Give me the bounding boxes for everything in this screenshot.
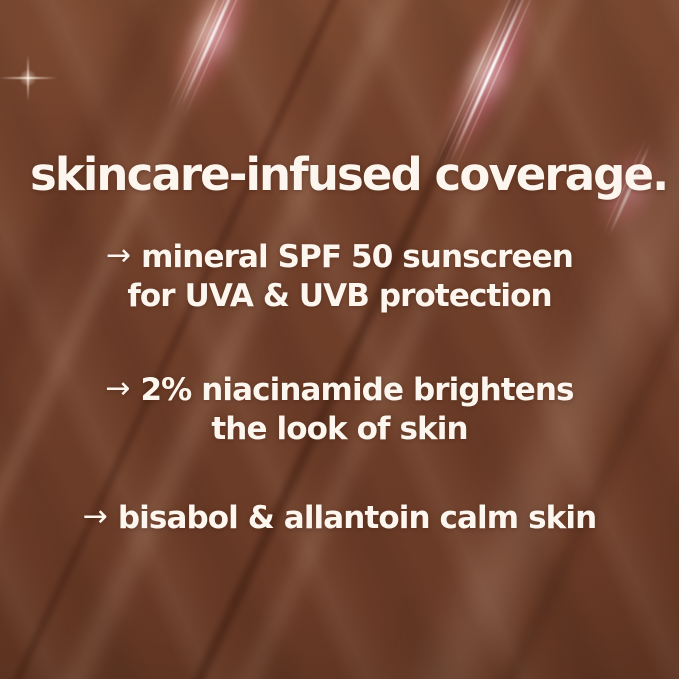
list-item: →mineral SPF 50 sunscreen for UVA & UVB … (0, 238, 679, 317)
arrow-right-icon: → (106, 237, 131, 275)
page-title: skincare-infused coverage. (30, 152, 660, 197)
marketing-graphic: skincare-infused coverage. →mineral SPF … (0, 0, 679, 679)
list-item-line-1: bisabol & allantoin calm skin (118, 500, 596, 536)
list-item-line-1: mineral SPF 50 sunscreen (141, 239, 573, 275)
list-item: →2% niacinamide brightens the look of sk… (0, 371, 679, 450)
list-item: →bisabol & allantoin calm skin (0, 499, 679, 538)
text-content: skincare-infused coverage. →mineral SPF … (0, 0, 679, 679)
claims-list: →mineral SPF 50 sunscreen for UVA & UVB … (0, 238, 679, 539)
list-item-line-2: for UVA & UVB protection (0, 277, 679, 316)
arrow-right-icon: → (83, 498, 108, 536)
arrow-right-icon: → (105, 370, 130, 408)
list-item-line-1: 2% niacinamide brightens (141, 372, 574, 408)
list-item-line-2: the look of skin (0, 410, 679, 449)
